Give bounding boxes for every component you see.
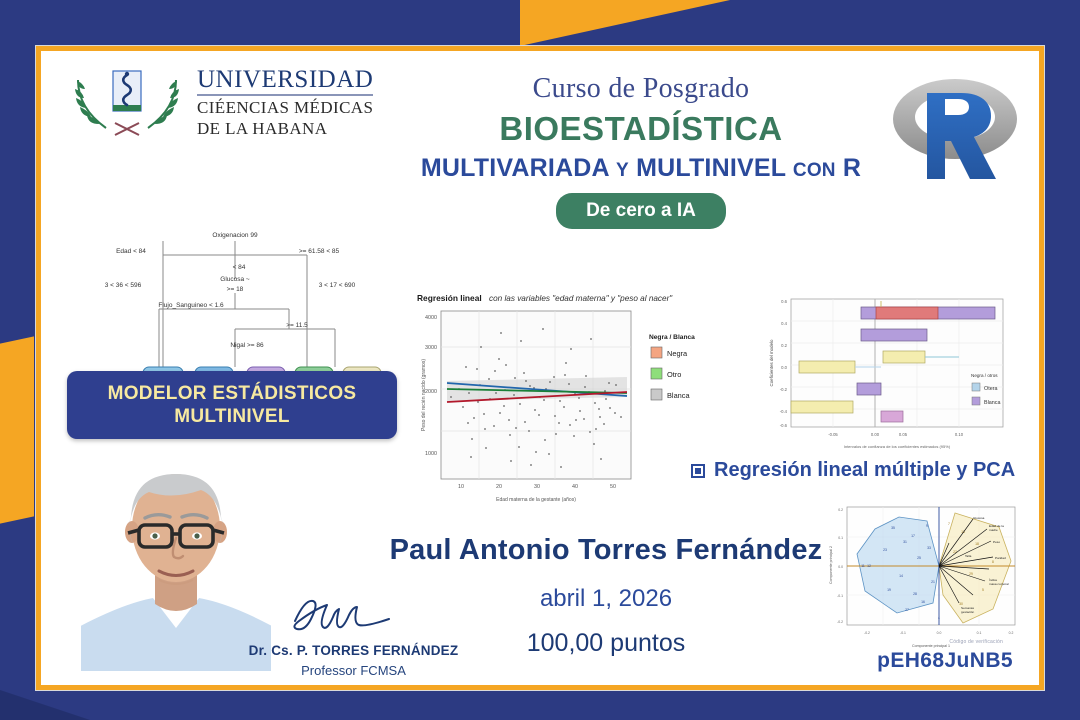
- svg-text:16: 16: [921, 600, 925, 604]
- svg-text:18: 18: [975, 542, 979, 546]
- svg-text:14: 14: [899, 574, 903, 578]
- tree-node-9: Nigal >= 86: [230, 342, 264, 349]
- bar-ylabel: Coeficientes del modelo: [769, 339, 774, 386]
- subtitle-r: R: [843, 154, 861, 182]
- tree-node-7: Flujo_Sanguineo < 1.6: [158, 302, 224, 309]
- scatter-title-bold: Regresión lineal: [417, 293, 482, 303]
- svg-text:-0.05: -0.05: [828, 432, 838, 437]
- svg-text:12: 12: [867, 564, 871, 568]
- svg-text:0.05: 0.05: [899, 432, 908, 437]
- bar-legend: Negra / otros Otera Blanca: [971, 373, 1000, 406]
- svg-text:27: 27: [905, 608, 909, 612]
- pca-arrow-label-6: Paridad: [995, 556, 1006, 560]
- university-name: UNIVERSIDAD: [197, 67, 373, 96]
- r-language-logo-icon: [885, 67, 1025, 187]
- decision-tree-figure: Oxigenacion 99 Edad < 84 < 84 >= 61.58 <…: [67, 217, 397, 397]
- svg-text:25: 25: [917, 556, 921, 560]
- tree-node-3: >= 61.58 < 85: [299, 248, 340, 255]
- awardee-points: 100,00 puntos: [371, 629, 841, 658]
- svg-text:7: 7: [948, 522, 950, 526]
- svg-text:0.2: 0.2: [838, 508, 843, 512]
- svg-text:3000: 3000: [425, 345, 437, 351]
- university-identity: UNIVERSIDAD CIÉENCIAS MÉDICAS DE LA HABA…: [69, 65, 373, 139]
- bar-xlabel: Intervalos de confianza de los coeficien…: [844, 444, 951, 449]
- pca-arrow-label-3: madre: [989, 528, 998, 532]
- scatter-legend-negra: Negra: [667, 349, 688, 358]
- pca-xlabel: Componente principal 1: [912, 644, 950, 648]
- svg-text:-0.2: -0.2: [780, 387, 788, 392]
- svg-text:8: 8: [992, 560, 994, 564]
- svg-text:-0.6: -0.6: [780, 423, 788, 428]
- certificate-code: pEH68JuNB5: [877, 649, 1013, 673]
- svg-text:10: 10: [458, 484, 464, 490]
- course-subtitle: MULTIVARIADA Y MULTINIVEL CON R: [391, 154, 891, 183]
- svg-text:0.1: 0.1: [977, 631, 982, 635]
- svg-text:20: 20: [496, 484, 502, 490]
- scatter-legend-otro: Otro: [667, 370, 681, 379]
- university-line3: DE LA HABANA: [197, 120, 373, 138]
- svg-text:0.6: 0.6: [781, 299, 787, 304]
- svg-text:28: 28: [913, 592, 917, 596]
- svg-text:0.2: 0.2: [1009, 631, 1014, 635]
- svg-text:0.2: 0.2: [781, 343, 787, 348]
- scatter-ylabel: Peso del recién nacido (gramos): [421, 359, 427, 431]
- svg-text:33: 33: [927, 546, 931, 550]
- svg-text:0.4: 0.4: [781, 321, 787, 326]
- instructor-portrait-photo: [81, 446, 271, 671]
- laurel-wreath-caduceus-crest-icon: [69, 65, 185, 139]
- svg-text:0.0: 0.0: [781, 365, 787, 370]
- linear-regression-scatter-figure: Regresión lineal con las variables "edad…: [411, 289, 711, 514]
- tree-node-4a: Glucosa ~: [220, 276, 250, 283]
- certificate-code-caption: Código de verificación: [949, 639, 1003, 645]
- svg-text:17: 17: [911, 534, 915, 538]
- svg-text:23: 23: [883, 548, 887, 552]
- tree-node-root: Oxigenacion 99: [212, 232, 258, 239]
- scatter-legend-blanca: Blanca: [667, 391, 690, 400]
- awardee-date: abril 1, 2026: [371, 585, 841, 613]
- svg-text:-0.2: -0.2: [837, 620, 843, 624]
- pca-biplot-figure: 1112 233117 251419 283321 162735 94 7131…: [823, 499, 1033, 654]
- model-highlight-box: MODELOR ESTÁDISTICOS MULTINIVEL: [67, 371, 397, 439]
- svg-text:0.0: 0.0: [937, 631, 942, 635]
- svg-text:11: 11: [861, 564, 865, 568]
- tree-node-8: >= 11.5: [286, 322, 308, 329]
- awardee-name: Paul Antonio Torres Fernández: [371, 534, 841, 567]
- pca-arrow-label-10: gestación: [961, 610, 975, 614]
- svg-text:4: 4: [938, 616, 940, 620]
- model-box-line1: MODELOR ESTÁDISTICOS: [73, 382, 391, 405]
- svg-text:0.10: 0.10: [955, 432, 964, 437]
- signatory-role: Professor FCMSA: [221, 663, 486, 678]
- university-line2: CIÉENCIAS MÉDICAS: [197, 99, 373, 117]
- scatter-legend-title: Negra / Blanca: [649, 334, 695, 341]
- blue-square-bullet-icon: [691, 464, 705, 478]
- tree-node-6: 3 < 17 < 690: [319, 282, 356, 289]
- svg-text:35: 35: [891, 526, 895, 530]
- svg-text:-0.1: -0.1: [900, 631, 906, 635]
- pca-arrow-label-4: Peso: [993, 540, 1000, 544]
- dark-corner-bottom-left: [0, 690, 90, 720]
- svg-text:1000: 1000: [425, 451, 437, 457]
- svg-text:-0.4: -0.4: [780, 409, 788, 414]
- svg-text:30: 30: [534, 484, 540, 490]
- bar-legend-otera: Otera: [984, 386, 997, 392]
- svg-text:50: 50: [610, 484, 616, 490]
- svg-text:19: 19: [887, 588, 891, 592]
- gold-bar-left: [0, 336, 34, 523]
- course-title-block: Curso de Posgrado BIOESTADÍSTICA MULTIVA…: [391, 73, 891, 229]
- pca-arrow-label-5: Talla: [965, 554, 972, 558]
- tree-node-2: < 84: [233, 264, 246, 271]
- subtitle-part1: MULTIVARIADA: [421, 154, 609, 182]
- tree-node-5: 3 < 36 < 596: [105, 282, 142, 289]
- svg-text:0.00: 0.00: [871, 432, 880, 437]
- svg-text:21: 21: [931, 580, 935, 584]
- interval-bar-figure: 0.6 0.4 0.2 0.0 -0.2 -0.4 -0.6 -0.05 0.0…: [763, 291, 1033, 456]
- gold-triangle-top: [520, 0, 730, 46]
- svg-text:31: 31: [903, 540, 907, 544]
- svg-text:40: 40: [572, 484, 578, 490]
- course-main-title: BIOESTADÍSTICA: [391, 110, 891, 148]
- bar-legend-title: Negra / otros: [971, 373, 998, 378]
- svg-text:29: 29: [969, 572, 973, 576]
- bar-legend-blanca: Blanca: [984, 400, 1000, 406]
- scatter-xlabel: Edad materna de la gestante (años): [496, 497, 576, 503]
- subtitle-conjunction: Y: [616, 160, 629, 181]
- pca-arrow-label-1: Glucosa: [973, 516, 985, 520]
- pca-callout-label: Regresión lineal múltiple y PCA: [714, 459, 1015, 482]
- pca-arrow-label-8: masa corporal: [989, 582, 1009, 586]
- certificate-card: UNIVERSIDAD CIÉENCIAS MÉDICAS DE LA HABA…: [36, 46, 1044, 690]
- tree-node-4b: >= 18: [227, 286, 244, 293]
- subtitle-part2: MULTINIVEL: [636, 154, 786, 182]
- svg-text:9: 9: [926, 524, 928, 528]
- svg-text:5: 5: [982, 588, 984, 592]
- course-pretitle: Curso de Posgrado: [391, 73, 891, 105]
- tree-node-1: Edad < 84: [116, 248, 146, 255]
- scatter-title-italic: con las variables "edad materna" y "peso…: [489, 294, 673, 303]
- svg-text:-0.2: -0.2: [864, 631, 870, 635]
- pca-callout: Regresión lineal múltiple y PCA: [691, 459, 1015, 482]
- model-box-line2: MULTINIVEL: [73, 405, 391, 428]
- svg-text:4000: 4000: [425, 315, 437, 321]
- subtitle-preposition: CON: [793, 160, 836, 181]
- course-badge: De cero a IA: [556, 193, 726, 229]
